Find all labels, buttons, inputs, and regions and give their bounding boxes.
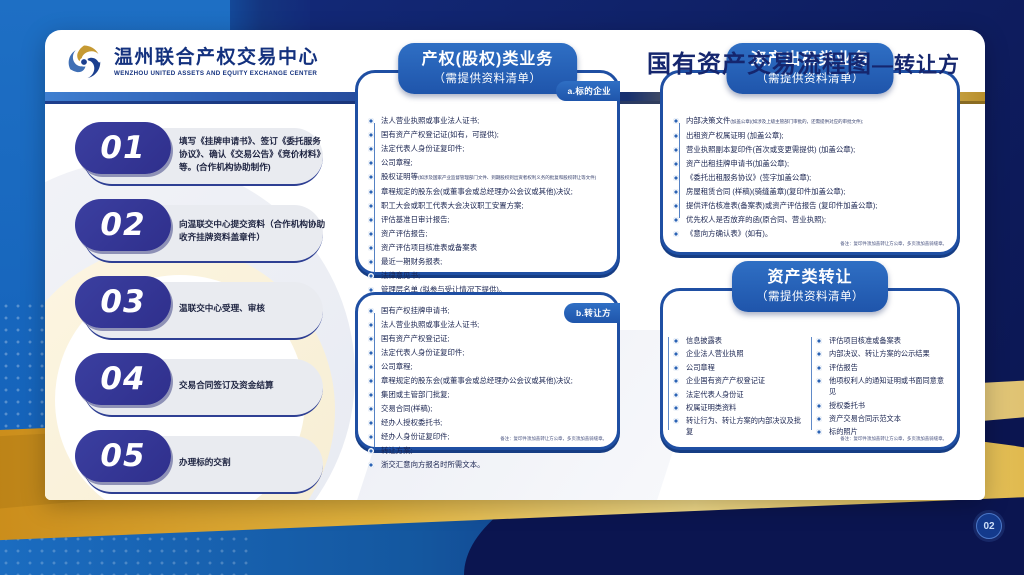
list-item-text: 优先权人是否放弃的函(原合同、营业执照);: [686, 215, 826, 224]
list-item-text: 公司章程;: [381, 158, 413, 167]
list-item: 转让方案;: [368, 445, 609, 457]
card-footnote: 备注：复印件须加盖转让方公章，多页须加盖骑缝章。: [840, 241, 947, 247]
list-item-text: 资产评估报告;: [381, 229, 427, 238]
list-item-text: 房屋租赁合同 (样稿)(骑缝盖章)(复印件加盖公章);: [686, 187, 845, 196]
list-item: 资产出租挂牌申请书(加盖公章);: [673, 158, 949, 170]
step-item[interactable]: 03 温联交中心受理、审核: [75, 276, 330, 342]
page-number-badge: 02: [976, 513, 1002, 539]
list-item: 出租资产权属证明 (加盖公章);: [673, 130, 949, 142]
list-item-text: 公司章程;: [381, 362, 413, 371]
list-item: 国有产权挂牌申请书;: [368, 305, 609, 317]
board-header: 温州联合产权交易中心 WENZHOU UNITED ASSETS AND EQU…: [45, 30, 985, 92]
list-item-text: 章程规定的股东会(或董事会或总经理办公会议或其他)决议;: [381, 376, 573, 385]
list-item-text: 国有资产产权登记证(如有，可提供);: [381, 130, 499, 139]
list-item: 授权委托书: [816, 400, 949, 411]
list-item-text: 股权证明等: [381, 172, 418, 181]
list-item-text: 《委托出租服务协议》(签字加盖公章);: [686, 173, 811, 182]
list-item: 股权证明等(如涉及国家产业监督管理部门文件、到期股权到出资者权利义务的批复和股权…: [368, 171, 609, 184]
list-item: 浙交汇意向方报名时所需文本。: [368, 459, 609, 471]
card-footnote: 备注：复印件须加盖转让方公章，多页须加盖骑缝章。: [840, 436, 947, 442]
asset-column-right: 评估项目核准或备案表内部决议、转让方案的公示结果评估报告他项权利人的通知证明或书…: [816, 335, 949, 440]
page-title-sub: —转让方: [872, 54, 960, 77]
card-equity-business: 产权(股权)类业务 （需提供资料清单） a.标的企业 法人营业执照或事业法人证书…: [355, 70, 620, 275]
list-item-text: 法人营业执照或事业法人证书;: [381, 320, 479, 329]
card-body: 内部决策文件(加盖公章)(如涉及上级主管部门审批的，还需提供对应的审批文件);出…: [673, 115, 949, 242]
list-item: 职工大会或职工代表大会决议职工安置方案;: [368, 200, 609, 212]
list-item: 国有资产产权登记证(如有，可提供);: [368, 129, 609, 141]
transferor-requirements-list: 国有产权挂牌申请书;法人营业执照或事业法人证书;国有资产产权登记证;法定代表人身…: [368, 305, 609, 470]
step-text: 交易合同签订及资金结算: [179, 353, 329, 417]
brand-name-en: WENZHOU UNITED ASSETS AND EQUITY EXCHANG…: [114, 70, 319, 77]
card-body: 法人营业执照或事业法人证书;国有资产产权登记证(如有，可提供);法定代表人身份证…: [368, 115, 609, 298]
step-item[interactable]: 02 向温联交中心提交资料（合作机构协助收齐挂牌资料盖章件）: [75, 199, 330, 265]
step-number: 05: [100, 438, 145, 474]
list-item: 资产评估项目核准表或备案表: [368, 242, 609, 254]
brand-name-cn: 温州联合产权交易中心: [114, 48, 319, 68]
list-item: 法定代表人身份证复印件;: [368, 347, 609, 359]
list-item-text: 浙交汇意向方报名时所需文本。: [381, 460, 484, 469]
content-board: 温州联合产权交易中心 WENZHOU UNITED ASSETS AND EQU…: [45, 30, 985, 500]
list-item-text: 法定代表人身份证复印件;: [381, 144, 464, 153]
list-item: 法定代表人身份证: [673, 389, 806, 400]
step-number-pill: 05: [75, 430, 171, 482]
list-item-text: 经办人身份证复印件;: [381, 432, 450, 441]
list-item: 优先权人是否放弃的函(原合同、营业执照);: [673, 214, 949, 226]
lease-requirements-list: 内部决策文件(加盖公章)(如涉及上级主管部门审批的，还需提供对应的审批文件);出…: [673, 115, 949, 239]
list-item: 评估报告: [816, 362, 949, 373]
list-item-text: 营业执照副本复印件(首次或变更需提供) (加盖公章);: [686, 145, 855, 154]
list-item-text: 最近一期财务报表;: [381, 257, 442, 266]
list-item: 内部决策文件(加盖公章)(如涉及上级主管部门审批的，还需提供对应的审批文件);: [673, 115, 949, 128]
list-item: 企业法人营业执照: [673, 348, 806, 359]
list-item-text: 评估基准日审计报告;: [381, 215, 450, 224]
process-steps: 01 填写《挂牌申请书》、签订《委托服务协议》、确认《交易公告》《竞价材料》等。…: [75, 122, 330, 500]
card-asset-lease-business: 资产出租类业务 （需提供资料清单） 内部决策文件(加盖公章)(如涉及上级主管部门…: [660, 70, 960, 255]
list-item: 章程规定的股东会(或董事会或总经理办公会议或其他)决议;: [368, 375, 609, 387]
card-title-asset: 资产类转让 （需提供资料清单）: [732, 261, 888, 312]
list-item: 法律意见书;: [368, 270, 609, 282]
list-item-text: 转让方案;: [381, 446, 413, 455]
card-asset-transfer: 资产类转让 （需提供资料清单） 信息披露表企业法人营业执照公司章程企业国有资产产…: [660, 288, 960, 450]
list-item: 集团或主管部门批复;: [368, 389, 609, 401]
list-item-text: 法人营业执照或事业法人证书;: [381, 116, 479, 125]
step-number-pill: 01: [75, 122, 171, 174]
brand-lockup: 温州联合产权交易中心 WENZHOU UNITED ASSETS AND EQU…: [63, 41, 319, 83]
list-item: 法人营业执照或事业法人证书;: [368, 115, 609, 127]
list-item: 公司章程;: [368, 157, 609, 169]
list-item-text: 《意向方确认表》(如有)。: [686, 229, 772, 238]
card-footnote: 备注：复印件须加盖转让方公章，多页须加盖骑缝章。: [500, 436, 607, 442]
card-transferor: b.转让方 国有产权挂牌申请书;法人营业执照或事业法人证书;国有资产产权登记证;…: [355, 292, 620, 450]
list-item: 权属证明类资料: [673, 402, 806, 413]
step-item[interactable]: 04 交易合同签订及资金结算: [75, 353, 330, 419]
list-item-text: 法定代表人身份证复印件;: [381, 348, 464, 357]
list-item: 营业执照副本复印件(首次或变更需提供) (加盖公章);: [673, 144, 949, 156]
list-item-text: 内部决策文件: [686, 116, 730, 125]
list-item: 资产评估报告;: [368, 228, 609, 240]
page-title: 国有资产交易流程图—转让方: [647, 44, 960, 79]
list-item: 《委托出租服务协议》(签字加盖公章);: [673, 172, 949, 184]
list-item: 公司章程: [673, 362, 806, 373]
list-item-text: 集团或主管部门批复;: [381, 390, 450, 399]
card-body: 国有产权挂牌申请书;法人营业执照或事业法人证书;国有资产产权登记证;法定代表人身…: [368, 305, 609, 473]
step-number: 03: [100, 284, 145, 320]
list-item: 交易合同(样稿);: [368, 403, 609, 415]
list-item-text: 经办人授权委托书;: [381, 418, 442, 427]
list-item: 评估基准日审计报告;: [368, 214, 609, 226]
page-title-main: 国有资产交易流程图: [647, 51, 872, 78]
list-item-text: 国有资产产权登记证;: [381, 334, 450, 343]
asset-column-left: 信息披露表企业法人营业执照公司章程企业国有资产产权登记证法定代表人身份证权属证明…: [673, 335, 806, 440]
step-text: 办理标的交割: [179, 430, 329, 494]
card-subtitle-text: （需提供资料清单）: [756, 288, 864, 304]
brand-text: 温州联合产权交易中心 WENZHOU UNITED ASSETS AND EQU…: [114, 48, 319, 77]
list-item: 法定代表人身份证复印件;: [368, 143, 609, 155]
list-item-text: 法律意见书;: [381, 271, 420, 280]
list-item: 公司章程;: [368, 361, 609, 373]
list-item: 国有资产产权登记证;: [368, 333, 609, 345]
list-item: 企业国有资产产权登记证: [673, 375, 806, 386]
swirl-logo-icon: [63, 41, 105, 83]
list-item-text: 出租资产权属证明 (加盖公章);: [686, 131, 784, 140]
asset-left-list: 信息披露表企业法人营业执照公司章程企业国有资产产权登记证法定代表人身份证权属证明…: [673, 335, 806, 437]
step-number: 02: [100, 207, 145, 243]
card-body-columns: 信息披露表企业法人营业执照公司章程企业国有资产产权登记证法定代表人身份证权属证明…: [673, 335, 949, 440]
list-item: 法人营业执照或事业法人证书;: [368, 319, 609, 331]
list-item-text: 交易合同(样稿);: [381, 404, 432, 413]
list-item-text: 章程规定的股东会(或董事会或总经理办公会议或其他)决议;: [381, 187, 573, 196]
list-item-text: 提供评估核准表(备案表)或资产评估报告 (复印件加盖公章);: [686, 201, 877, 210]
step-item[interactable]: 05 办理标的交割: [75, 430, 330, 496]
equity-requirements-list: 法人营业执照或事业法人证书;国有资产产权登记证(如有，可提供);法定代表人身份证…: [368, 115, 609, 295]
step-number-pill: 04: [75, 353, 171, 405]
list-item: 他项权利人的通知证明或书面同意意见: [816, 375, 949, 397]
list-rail: [668, 337, 669, 430]
list-item: 信息披露表: [673, 335, 806, 346]
step-text: 温联交中心受理、审核: [179, 276, 329, 340]
list-item-note: (如涉及国家产业监督管理部门文件、到期股权到出资者权利义务的批复和股权转让等文件…: [418, 175, 596, 180]
list-item: 资产交易合同示范文本: [816, 413, 949, 424]
asset-right-list: 评估项目核准或备案表内部决议、转让方案的公示结果评估报告他项权利人的通知证明或书…: [816, 335, 949, 437]
list-item: 转让行为、转让方案的内部决议及批复: [673, 415, 806, 437]
step-number: 01: [100, 130, 145, 166]
list-item-text: 职工大会或职工代表大会决议职工安置方案;: [381, 201, 523, 210]
list-item: 章程规定的股东会(或董事会或总经理办公会议或其他)决议;: [368, 186, 609, 198]
list-item: 最近一期财务报表;: [368, 256, 609, 268]
list-item: 房屋租赁合同 (样稿)(骑缝盖章)(复印件加盖公章);: [673, 186, 949, 198]
list-item-text: 资产出租挂牌申请书(加盖公章);: [686, 159, 789, 168]
step-text: 填写《挂牌申请书》、签订《委托服务协议》、确认《交易公告》《竞价材料》等。(合作…: [179, 122, 329, 186]
step-number-pill: 03: [75, 276, 171, 328]
step-number-pill: 02: [75, 199, 171, 251]
step-number: 04: [100, 361, 145, 397]
step-item[interactable]: 01 填写《挂牌申请书》、签订《委托服务协议》、确认《交易公告》《竞价材料》等。…: [75, 122, 330, 188]
card-title-text: 资产类转让: [756, 268, 864, 287]
list-item: 内部决议、转让方案的公示结果: [816, 348, 949, 359]
list-rail: [811, 337, 812, 430]
step-text: 向温联交中心提交资料（合作机构协助收齐挂牌资料盖章件）: [179, 199, 329, 263]
list-item-text: 国有产权挂牌申请书;: [381, 306, 450, 315]
list-item: 经办人授权委托书;: [368, 417, 609, 429]
list-item: 提供评估核准表(备案表)或资产评估报告 (复印件加盖公章);: [673, 200, 949, 212]
list-item: 评估项目核准或备案表: [816, 335, 949, 346]
list-item-note: (加盖公章)(如涉及上级主管部门审批的，还需提供对应的审批文件);: [730, 119, 863, 124]
list-item-text: 资产评估项目核准表或备案表: [381, 243, 477, 252]
list-item: 《意向方确认表》(如有)。: [673, 228, 949, 240]
